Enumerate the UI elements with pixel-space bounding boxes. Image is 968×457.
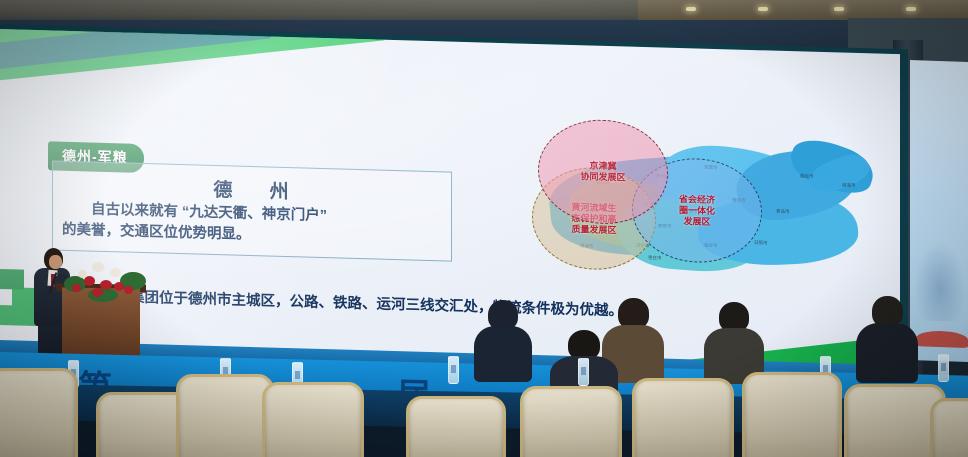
map-city-label: 青岛市 — [776, 209, 790, 215]
banquet-chair — [742, 372, 842, 457]
ceiling-light-strip — [638, 0, 968, 20]
audience-member — [704, 302, 762, 382]
secondary-display — [910, 60, 968, 362]
zone-label-line-2: 圈一体化 — [679, 204, 715, 215]
banquet-chair — [930, 398, 968, 457]
banquet-chair — [176, 374, 274, 457]
banquet-chair — [0, 368, 78, 457]
banquet-chair — [406, 396, 506, 457]
banquet-chair — [632, 378, 734, 457]
water-bottle — [448, 356, 459, 384]
banquet-chair — [520, 386, 622, 457]
zone-label-line-3: 发展区 — [683, 216, 710, 227]
flower-arrangement — [62, 258, 148, 302]
zone-label-line-1: 京津冀 — [589, 160, 616, 171]
water-bottle — [578, 358, 589, 386]
map-city-label: 威海市 — [842, 183, 856, 189]
zone-label-line-3: 质量发展区 — [571, 223, 616, 234]
map-city-label: 烟台市 — [800, 173, 814, 179]
map-city-label: 枣庄市 — [648, 255, 662, 261]
conference-photo-stage: 德州-军粮 德 州 自古以来就有 “九达天衢、神京门户” 的美誉，交通区位优势明… — [0, 0, 968, 457]
shandong-map-graphic: 德州市 滨州市 东营市 烟台市 威海市 济南市 淄博市 潍坊市 青岛市 泰安市 … — [508, 115, 878, 285]
zone-label-line-2: 协同发展区 — [580, 171, 625, 182]
banquet-chair — [262, 382, 364, 457]
map-city-label: 日照市 — [754, 240, 768, 246]
audience-member — [856, 296, 916, 382]
audience-member — [474, 300, 530, 380]
zone-label-line-1: 省会经济 — [679, 193, 715, 204]
slide-body-line-2: 的美誉，交通区位优势明显。 — [62, 222, 251, 243]
water-bottle — [938, 354, 949, 382]
